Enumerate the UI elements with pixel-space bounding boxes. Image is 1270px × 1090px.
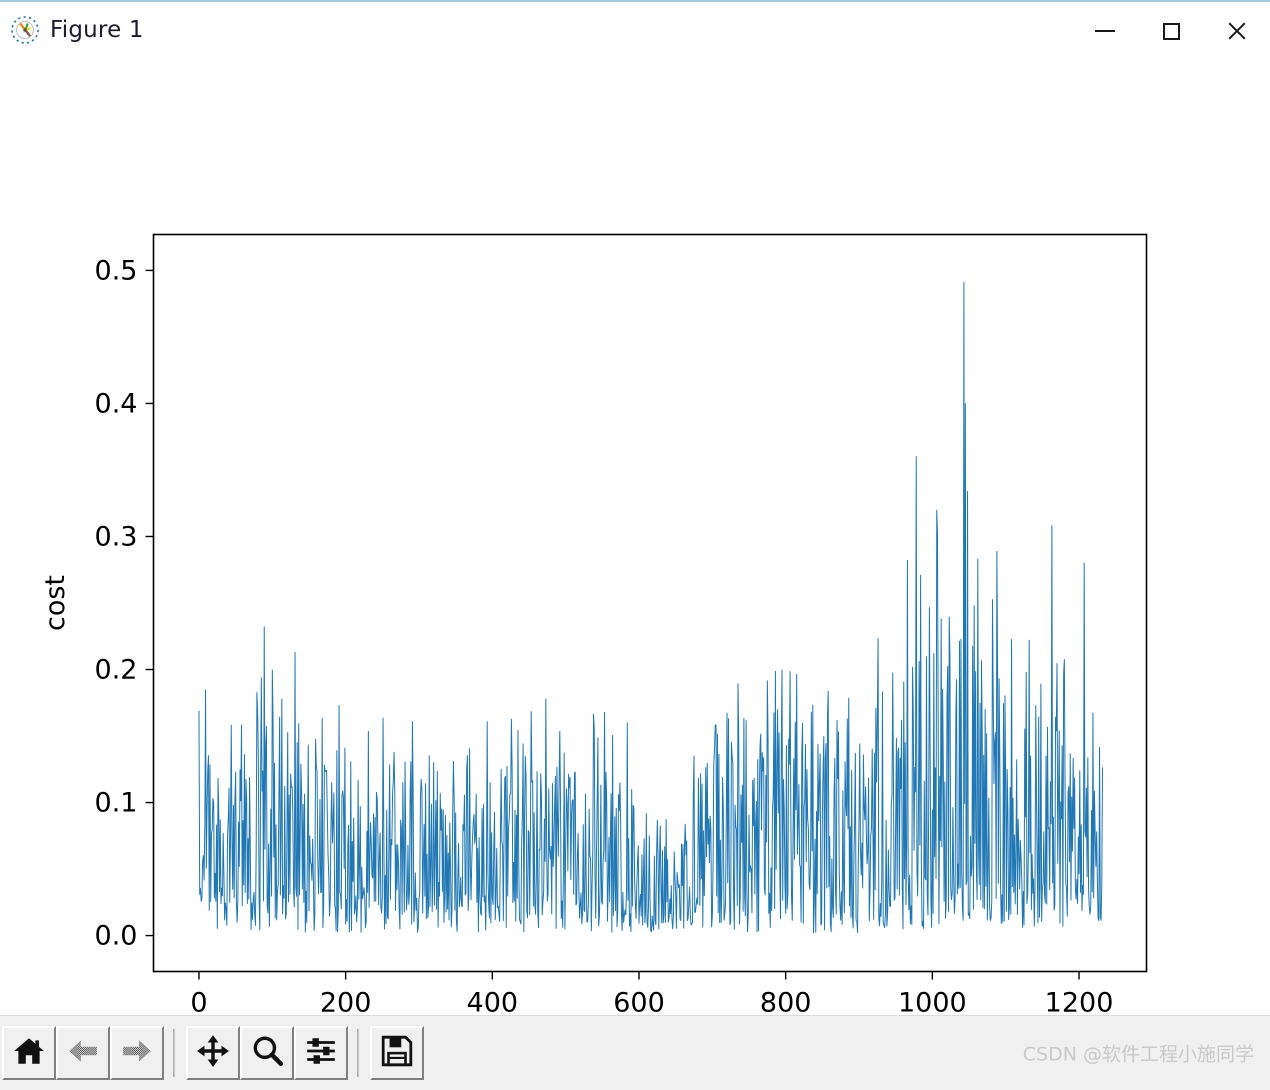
svg-text:0: 0 xyxy=(190,988,207,1016)
toolbar-separator xyxy=(173,1029,175,1077)
y-axis-ticks: 0.00.10.20.30.40.5 xyxy=(95,255,154,951)
matplotlib-logo-icon xyxy=(10,15,40,45)
sliders-icon xyxy=(304,1034,338,1072)
toolbar-separator xyxy=(357,1029,359,1077)
svg-text:0.0: 0.0 xyxy=(95,921,138,952)
close-button[interactable] xyxy=(1204,2,1270,60)
save-button-group xyxy=(368,1026,424,1080)
svg-text:0.4: 0.4 xyxy=(95,388,138,419)
svg-text:0.5: 0.5 xyxy=(95,255,138,286)
svg-text:800: 800 xyxy=(760,988,812,1016)
right-arrow-icon xyxy=(120,1034,154,1072)
matplotlib-figure: 020040060080010001200 0.00.10.20.30.40.5… xyxy=(0,58,1270,1015)
window-controls xyxy=(1072,2,1270,60)
window-title: Figure 1 xyxy=(50,17,144,43)
svg-text:1000: 1000 xyxy=(898,988,967,1016)
cost-vs-step-line-chart: 020040060080010001200 0.00.10.20.30.40.5… xyxy=(0,58,1270,1015)
pan-button[interactable] xyxy=(186,1026,240,1080)
back-button[interactable] xyxy=(56,1026,110,1080)
svg-text:600: 600 xyxy=(613,988,665,1016)
save-button[interactable] xyxy=(370,1026,424,1080)
svg-text:1200: 1200 xyxy=(1045,988,1114,1016)
home-button[interactable] xyxy=(2,1026,56,1080)
svg-text:400: 400 xyxy=(467,988,519,1016)
configure-subplots-button[interactable] xyxy=(294,1026,348,1080)
home-icon xyxy=(12,1034,46,1072)
tools-button-group xyxy=(184,1026,348,1080)
minimize-button[interactable] xyxy=(1072,2,1138,60)
zoom-button[interactable] xyxy=(240,1026,294,1080)
history-button-group xyxy=(0,1026,164,1080)
left-arrow-icon xyxy=(66,1034,100,1072)
magnifier-icon xyxy=(250,1034,284,1072)
navigation-toolbar: CSDN @软件工程小施同学 xyxy=(0,1015,1270,1090)
title-bar: Figure 1 xyxy=(0,0,1270,58)
x-axis-ticks: 020040060080010001200 xyxy=(190,972,1113,1016)
maximize-button[interactable] xyxy=(1138,2,1204,60)
forward-button[interactable] xyxy=(110,1026,164,1080)
csdn-watermark: CSDN @软件工程小施同学 xyxy=(1023,1040,1254,1067)
maximize-icon xyxy=(1163,23,1180,40)
close-icon xyxy=(1226,20,1248,42)
move-icon xyxy=(196,1034,230,1072)
svg-text:0.3: 0.3 xyxy=(95,521,138,552)
minimize-icon xyxy=(1095,30,1115,32)
floppy-disk-icon xyxy=(380,1034,414,1072)
y-axis-label: cost xyxy=(40,575,71,631)
svg-text:0.1: 0.1 xyxy=(95,788,138,819)
figure-canvas[interactable]: 020040060080010001200 0.00.10.20.30.40.5… xyxy=(0,58,1270,1015)
svg-text:0.2: 0.2 xyxy=(95,655,138,686)
figure-window: Figure 1 020040060080010001200 0.00.10.2… xyxy=(0,0,1270,1090)
svg-text:200: 200 xyxy=(320,988,372,1016)
